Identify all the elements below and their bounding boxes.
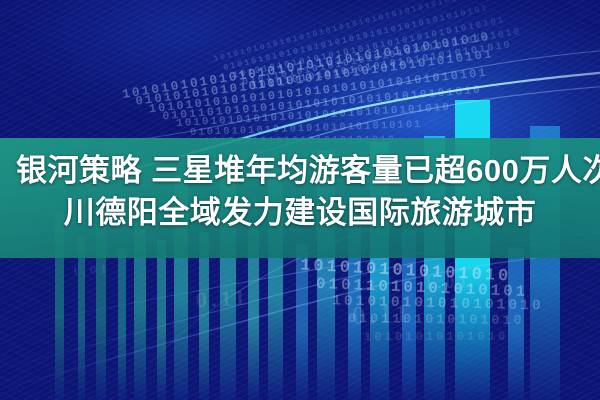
headline-line-1: 银河策略 三星堆年均游客量已超600万人次 四 bbox=[16, 150, 584, 192]
headline-line-2: 川德阳全域发力建设国际旅游城市 bbox=[16, 192, 584, 234]
news-banner-image: 1010101010101010101010101010101010101001… bbox=[0, 0, 600, 400]
headline-text: 银河策略 三星堆年均游客量已超600万人次 四 川德阳全域发力建设国际旅游城市 bbox=[0, 150, 600, 234]
